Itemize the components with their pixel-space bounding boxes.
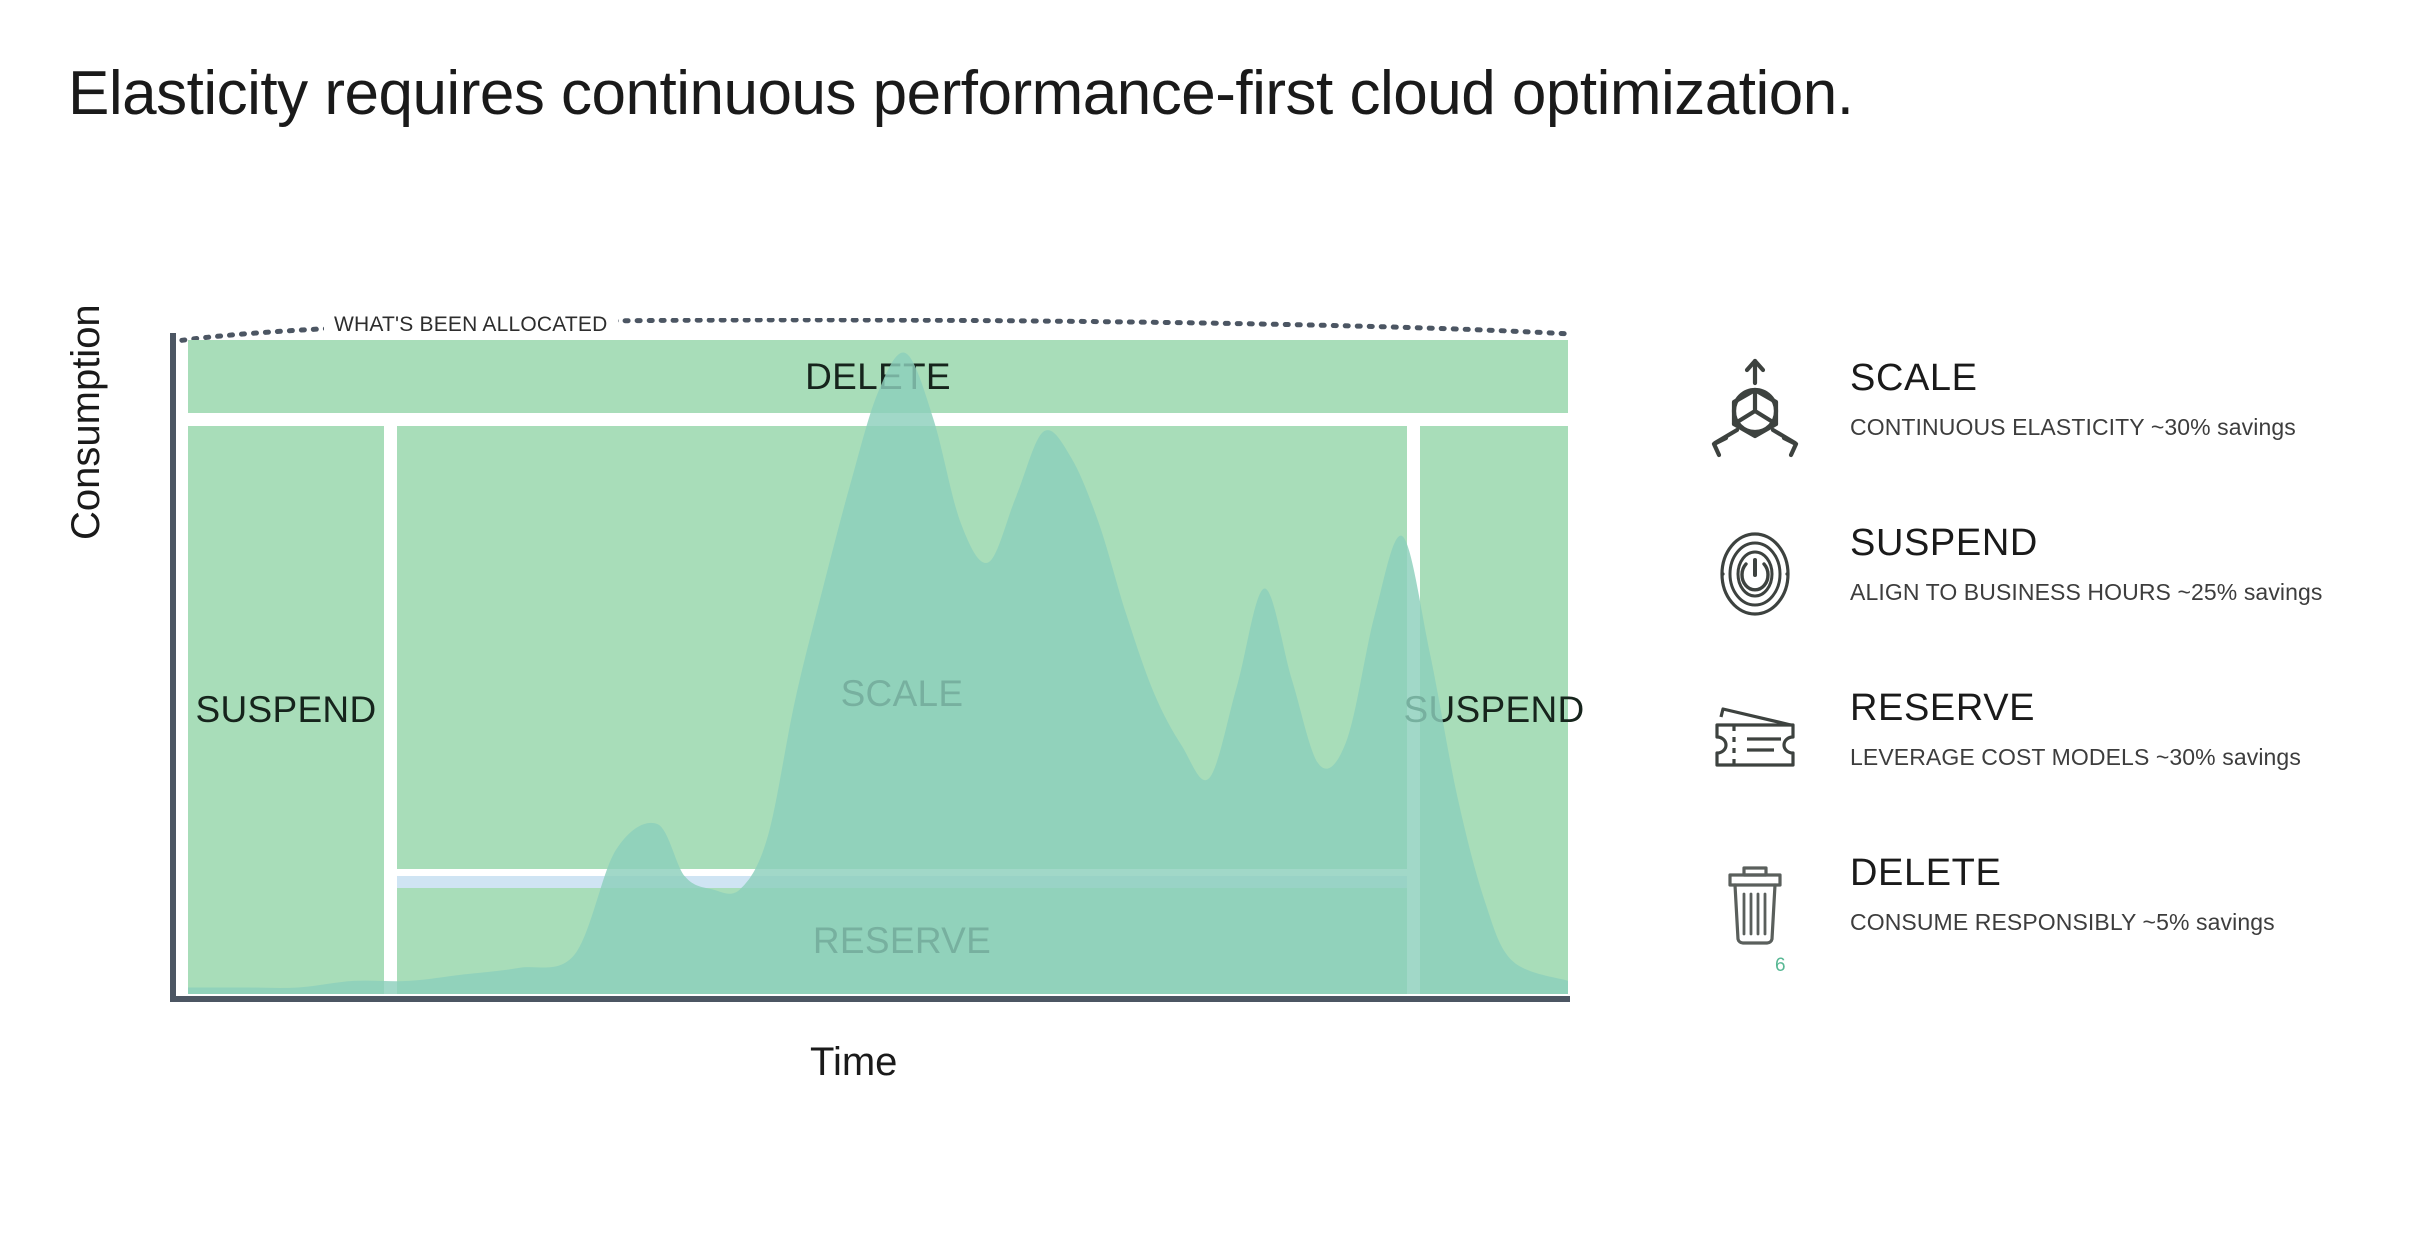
band-delete: DELETE [188, 340, 1568, 413]
band-suspend-right-label: SUSPEND [1404, 689, 1585, 731]
optimization-legend: SCALE CONTINUOUS ELASTICITY ~30% savings… [1700, 352, 2360, 1012]
band-suspend-right: SUSPEND [1420, 426, 1568, 994]
band-scale: SCALE [397, 426, 1407, 869]
legend-subtitle-suspend: ALIGN TO BUSINESS HOURS ~25% savings [1850, 579, 2323, 606]
y-axis-label: Consumption [64, 304, 109, 540]
band-delete-label: DELETE [805, 356, 951, 398]
page-number: 6 [1775, 955, 1786, 977]
legend-item-delete[interactable]: DELETE CONSUME RESPONSIBLY ~5% savings [1700, 847, 2360, 1012]
plot-area: DELETE SUSPEND SCALE RESERVE SUSPEND [188, 340, 1568, 994]
y-axis-line [170, 333, 176, 1000]
legend-subtitle-delete: CONSUME RESPONSIBLY ~5% savings [1850, 909, 2275, 936]
scale-cube-icon [1700, 354, 1810, 464]
consumption-chart: Consumption Time WHAT'S BEEN ALLOCATED D… [0, 0, 1640, 1244]
trash-icon [1700, 849, 1810, 959]
legend-subtitle-reserve: LEVERAGE COST MODELS ~30% savings [1850, 744, 2301, 771]
band-reserve-label: RESERVE [813, 920, 991, 962]
allocated-label: WHAT'S BEEN ALLOCATED [324, 313, 618, 337]
band-suspend-left: SUSPEND [188, 426, 384, 994]
band-reserve: RESERVE [397, 888, 1407, 994]
x-axis-label: Time [810, 1040, 897, 1085]
legend-title-reserve: RESERVE [1850, 688, 2301, 730]
legend-title-suspend: SUSPEND [1850, 523, 2323, 565]
legend-item-reserve[interactable]: RESERVE LEVERAGE COST MODELS ~30% saving… [1700, 682, 2360, 847]
legend-subtitle-scale: CONTINUOUS ELASTICITY ~30% savings [1850, 414, 2296, 441]
x-axis-line [170, 996, 1570, 1002]
legend-title-scale: SCALE [1850, 358, 2296, 400]
band-scale-label: SCALE [841, 673, 964, 715]
legend-item-scale[interactable]: SCALE CONTINUOUS ELASTICITY ~30% savings [1700, 352, 2360, 517]
power-button-icon [1700, 519, 1810, 629]
ticket-icon [1700, 684, 1810, 794]
legend-title-delete: DELETE [1850, 853, 2275, 895]
band-suspend-left-label: SUSPEND [196, 689, 377, 731]
legend-item-suspend[interactable]: SUSPEND ALIGN TO BUSINESS HOURS ~25% sav… [1700, 517, 2360, 682]
